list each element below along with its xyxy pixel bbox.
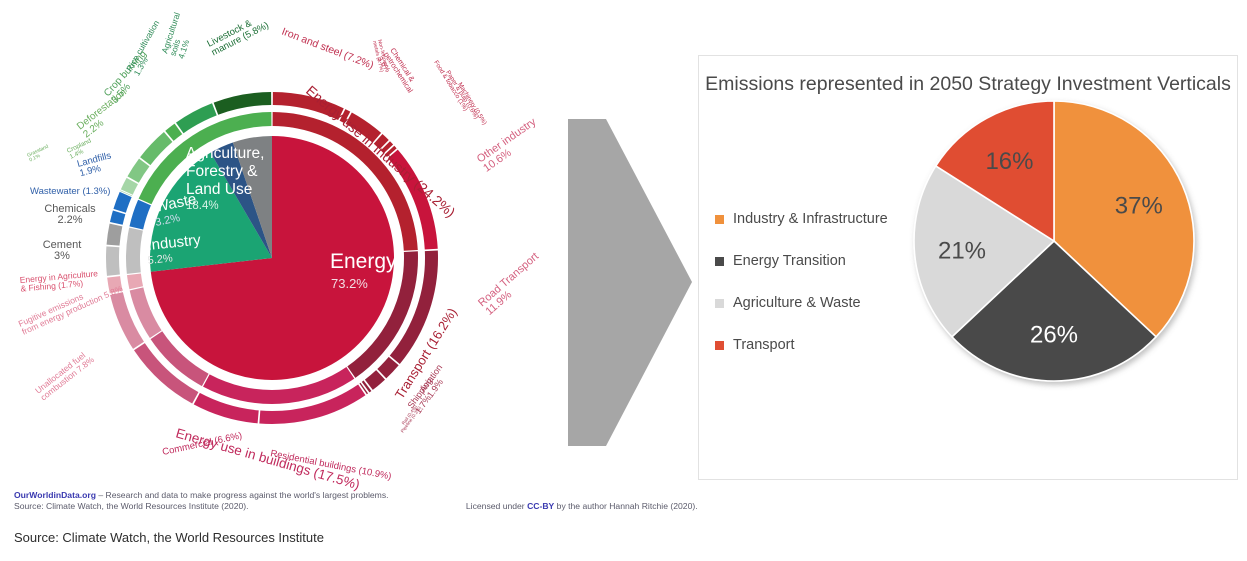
investment-verticals-pie: 37%26%21%16%	[894, 81, 1214, 401]
legend-swatch-icon	[715, 257, 724, 266]
outer-arc	[106, 246, 120, 276]
outer-arc	[127, 159, 149, 183]
outer-arc	[113, 192, 131, 213]
pie-slice-label: 26%	[1030, 321, 1078, 348]
sector-label: Livestock &manure (5.8%)	[205, 11, 270, 58]
legend-item-industry-infrastructure[interactable]: Industry & Infrastructure	[715, 198, 920, 240]
legend-swatch-icon	[715, 341, 724, 350]
center-label: 73.2%	[331, 276, 368, 291]
license-post: by the author Hannah Ritchie (2020).	[554, 501, 697, 511]
legend-swatch-icon	[715, 215, 724, 224]
owid-emissions-chart: Energy73.2%Agriculture,Forestry &Land Us…	[0, 0, 600, 500]
sector-label: Road Transport11.9%	[476, 250, 548, 317]
center-label: Forestry &	[186, 163, 258, 180]
center-label: Energy	[330, 250, 397, 273]
center-label: Agriculture,	[186, 145, 264, 162]
outer-arc	[214, 92, 272, 115]
middle-arc	[127, 273, 143, 289]
middle-arc	[129, 200, 151, 230]
owid-source: Source: Climate Watch, the World Resourc…	[14, 501, 249, 511]
owid-license: Licensed under CC-BY by the author Hanna…	[466, 501, 698, 512]
sector-label: Wastewater (1.3%)	[30, 186, 110, 197]
owid-sunburst-svg: Energy73.2%Agriculture,Forestry &Land Us…	[0, 0, 600, 500]
legend-label: Energy Transition	[733, 253, 846, 269]
investment-verticals-panel: Emissions represented in 2050 Strategy I…	[698, 55, 1238, 480]
sector-label: Cement3%	[43, 239, 82, 262]
outer-arc	[110, 211, 125, 225]
sector-label: Energy use in buildings (17.5%)	[174, 425, 361, 492]
sector-label: Energy in Agriculture& Fishing (1.7%)	[19, 268, 99, 293]
legend-item-agriculture-waste[interactable]: Agriculture & Waste	[715, 282, 920, 324]
pie-slice-label: 21%	[938, 238, 986, 265]
sector-label: Other industry10.6%	[475, 116, 545, 175]
outer-arc	[107, 224, 123, 246]
owid-tagline: – Research and data to make progress aga…	[98, 490, 388, 500]
sector-label: Agriculturalsoils4.1%	[159, 11, 198, 60]
license-pre: Licensed under	[466, 501, 527, 511]
sector-label: Chemical &petrochemical3.6%	[375, 46, 421, 99]
owid-credit: OurWorldinData.org – Research and data t…	[14, 490, 698, 511]
legend-item-transport[interactable]: Transport	[715, 324, 920, 366]
legend-label: Industry & Infrastructure	[733, 211, 888, 227]
legend-label: Transport	[733, 337, 795, 353]
sector-label: Unallocated fuelcombustion 7.8%	[33, 347, 96, 402]
middle-arc	[126, 228, 143, 274]
ccby-link[interactable]: CC-BY	[527, 501, 554, 511]
legend-item-energy-transition[interactable]: Energy Transition	[715, 240, 920, 282]
center-label: Land Use	[186, 181, 252, 198]
sector-label: Iron and steel (7.2%)	[280, 26, 375, 72]
pie-slice-label: 37%	[1115, 192, 1163, 219]
legend-label: Agriculture & Waste	[733, 295, 861, 311]
legend-swatch-icon	[715, 299, 724, 308]
owid-brand[interactable]: OurWorldinData.org	[14, 490, 96, 500]
sector-label: Grassland0.1%	[26, 144, 52, 164]
flow-arrow	[560, 110, 700, 455]
flow-arrow-shape	[568, 119, 692, 446]
pie-legend: Industry & InfrastructureEnergy Transiti…	[715, 198, 920, 366]
sector-label: Chemicals2.2%	[44, 203, 96, 226]
source-note: Source: Climate Watch, the World Resourc…	[14, 530, 324, 545]
pie-slice-label: 16%	[985, 148, 1033, 175]
